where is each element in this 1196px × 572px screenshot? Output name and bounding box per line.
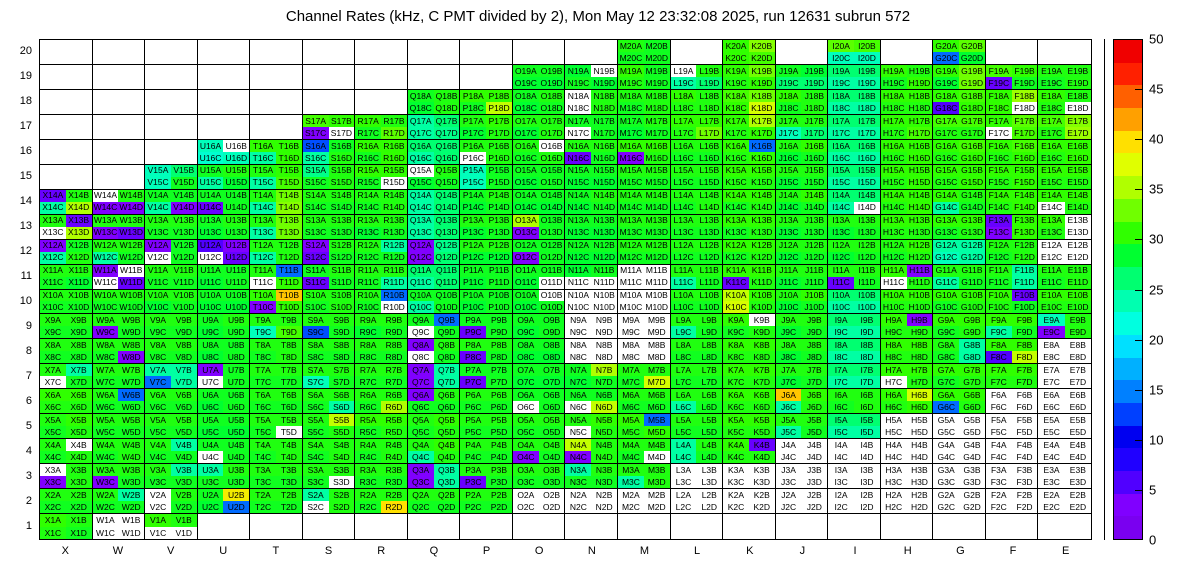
channel-T8D: T8D — [276, 351, 302, 363]
heatmap-cell-I12: I12AI12BI12CI12D — [828, 240, 881, 265]
heatmap-cell-O4: O4AO4BO4CO4D — [513, 439, 566, 464]
channel-X9D: X9D — [66, 326, 92, 338]
channel-P11B: P11B — [486, 265, 512, 277]
channel-N4D: N4D — [591, 451, 617, 463]
heatmap-cell-G13: G13AG13BG13CG13D — [933, 215, 986, 240]
channel-H7B: H7B — [907, 364, 933, 376]
channel-G12C: G12C — [933, 252, 959, 264]
channel-H11D: H11D — [907, 277, 933, 289]
channel-N4B: N4B — [591, 439, 617, 451]
heatmap-cell-X14: X14AX14BX14CX14D — [40, 190, 93, 215]
channel-E4C: E4C — [1038, 451, 1064, 463]
heatmap-cell-F1 — [986, 514, 1039, 539]
heatmap-cell-X1: X1AX1BX1CX1D — [40, 514, 93, 539]
channel-G19D: G19D — [959, 77, 985, 89]
heatmap-cell-K6: K6AK6BK6CK6D — [723, 389, 776, 414]
channel-L1A — [671, 514, 697, 526]
channel-G16A: G16A — [933, 140, 959, 152]
channel-M6C: M6C — [618, 401, 644, 413]
channel-T16C: T16C — [250, 152, 276, 164]
heatmap-cell-X6: X6AX6BX6CX6D — [40, 389, 93, 414]
channel-N13A: N13A — [565, 215, 591, 227]
y-axis-label-17: 17 — [2, 120, 32, 132]
heatmap-cell-W9: W9AW9BW9CW9D — [93, 314, 146, 339]
channel-H19D: H19D — [907, 77, 933, 89]
y-axis-label-16: 16 — [2, 145, 32, 157]
channel-N7B: N7B — [591, 364, 617, 376]
channel-E2B: E2B — [1065, 489, 1091, 501]
channel-K2C: K2C — [723, 501, 749, 513]
heatmap-cell-H6: H6AH6BH6CH6D — [881, 389, 934, 414]
channel-W14A: W14A — [93, 190, 119, 202]
heatmap-cell-R9: R9AR9BR9CR9D — [355, 314, 408, 339]
channel-J11D: J11D — [801, 277, 827, 289]
heatmap-cell-J8: J8AJ8BJ8CJ8D — [776, 339, 829, 364]
channel-T12D: T12D — [276, 252, 302, 264]
channel-S15D: S15D — [329, 177, 355, 189]
heatmap-cell-W3: W3AW3BW3CW3D — [93, 464, 146, 489]
channel-N10C: N10C — [565, 301, 591, 313]
channel-H4D: H4D — [907, 451, 933, 463]
channel-U3A: U3A — [198, 464, 224, 476]
channel-T14C: T14C — [250, 202, 276, 214]
heatmap-cell-F9: F9AF9BF9CF9D — [986, 314, 1039, 339]
channel-X14D: X14D — [66, 202, 92, 214]
channel-S6A: S6A — [303, 389, 329, 401]
channel-S2D: S2D — [329, 501, 355, 513]
channel-L4C: L4C — [671, 451, 697, 463]
channel-R14A: R14A — [355, 190, 381, 202]
channel-K19D: K19D — [749, 77, 775, 89]
channel-G20A: G20A — [933, 40, 959, 52]
heatmap-cell-H17: H17AH17BH17CH17D — [881, 115, 934, 140]
channel-H17C: H17C — [881, 127, 907, 139]
channel-S10A: S10A — [303, 290, 329, 302]
channel-M4A: M4A — [618, 439, 644, 451]
channel-Q19D — [434, 77, 460, 89]
channel-K18C: K18C — [723, 102, 749, 114]
channel-L17A: L17A — [671, 115, 697, 127]
channel-V3C: V3C — [145, 476, 171, 488]
x-axis-label-R: R — [355, 545, 408, 557]
channel-O10C: O10C — [513, 301, 539, 313]
channel-X11A: X11A — [40, 265, 66, 277]
channel-L11B: L11B — [696, 265, 722, 277]
channel-V9C: V9C — [145, 326, 171, 338]
channel-X17C — [40, 127, 66, 139]
channel-F10C: F10C — [986, 301, 1012, 313]
channel-J19B: J19B — [801, 65, 827, 77]
heatmap-cell-J14: J14AJ14BJ14CJ14D — [776, 190, 829, 215]
channel-T20D — [276, 52, 302, 64]
x-axis-label-U: U — [197, 545, 250, 557]
x-axis-label-J: J — [776, 545, 829, 557]
channel-U18D — [223, 102, 249, 114]
colorbar-tick-25: 25 — [1149, 282, 1163, 297]
channel-S13C: S13C — [303, 227, 329, 239]
channel-I2B: I2B — [854, 489, 880, 501]
channel-E10C: E10C — [1038, 301, 1064, 313]
channel-T9C: T9C — [250, 326, 276, 338]
colorbar-swatch — [1114, 40, 1142, 63]
heatmap-cell-U5: U5AU5BU5CU5D — [198, 414, 251, 439]
channel-K14C: K14C — [723, 202, 749, 214]
channel-F10D: F10D — [1012, 301, 1038, 313]
channel-Q18D: Q18D — [434, 102, 460, 114]
channel-Q15B: Q15B — [434, 165, 460, 177]
channel-Q6D: Q6D — [434, 401, 460, 413]
channel-M10D: M10D — [644, 301, 670, 313]
channel-T13C: T13C — [250, 227, 276, 239]
channel-E20B — [1065, 40, 1091, 52]
channel-O6B: O6B — [539, 389, 565, 401]
heatmap-cell-F8: F8AF8BF8CF8D — [986, 339, 1039, 364]
channel-Q20C — [408, 52, 434, 64]
channel-L12A: L12A — [671, 240, 697, 252]
heatmap-cell-P4: P4AP4BP4CP4D — [460, 439, 513, 464]
channel-G12A: G12A — [933, 240, 959, 252]
channel-F12A: F12A — [986, 240, 1012, 252]
channel-T3D: T3D — [276, 476, 302, 488]
heatmap-cell-V10: V10AV10BV10CV10D — [145, 290, 198, 315]
channel-R9A: R9A — [355, 314, 381, 326]
heatmap-cell-T3: T3AT3BT3CT3D — [250, 464, 303, 489]
channel-N5C: N5C — [565, 426, 591, 438]
heatmap-cell-N20 — [565, 40, 618, 65]
channel-X13A: X13A — [40, 215, 66, 227]
heatmap-cell-H7: H7AH7BH7CH7D — [881, 364, 934, 389]
channel-S14A: S14A — [303, 190, 329, 202]
heatmap-cell-K3: K3AK3BK3CK3D — [723, 464, 776, 489]
channel-P18D: P18D — [486, 102, 512, 114]
channel-P14C: P14C — [460, 202, 486, 214]
x-axis-label-M: M — [618, 545, 671, 557]
channel-X14B: X14B — [66, 190, 92, 202]
channel-J2A: J2A — [776, 489, 802, 501]
channel-O16B: O16B — [539, 140, 565, 152]
channel-E2C: E2C — [1038, 501, 1064, 513]
channel-N9A: N9A — [565, 314, 591, 326]
channel-L13A: L13A — [671, 215, 697, 227]
channel-N10B: N10B — [591, 290, 617, 302]
heatmap-cell-T11: T11AT11BT11CT11D — [250, 265, 303, 290]
channel-Q16C: Q16C — [408, 152, 434, 164]
heatmap-cell-J11: J11AJ11BJ11CJ11D — [776, 265, 829, 290]
channel-R6C: R6C — [355, 401, 381, 413]
channel-W14C: W14C — [93, 202, 119, 214]
channel-F7C: F7C — [986, 376, 1012, 388]
channel-M11B: M11B — [644, 265, 670, 277]
channel-J14D: J14D — [801, 202, 827, 214]
channel-S13B: S13B — [329, 215, 355, 227]
heatmap-cell-R13: R13AR13BR13CR13D — [355, 215, 408, 240]
heatmap-cell-V1: V1AV1BV1CV1D — [145, 514, 198, 539]
channel-T1C — [250, 527, 276, 539]
channel-H18D: H18D — [907, 102, 933, 114]
heatmap-cell-N7: N7AN7BN7CN7D — [565, 364, 618, 389]
channel-U14A: U14A — [198, 190, 224, 202]
channel-L20A — [671, 40, 697, 52]
channel-P16C: P16C — [460, 152, 486, 164]
channel-I12C: I12C — [828, 252, 854, 264]
heatmap-cell-U12: U12AU12BU12CU12D — [198, 240, 251, 265]
channel-U20B — [223, 40, 249, 52]
channel-V18C — [145, 102, 171, 114]
channel-H8C: H8C — [881, 351, 907, 363]
channel-S15A: S15A — [303, 165, 329, 177]
channel-U1C — [198, 527, 224, 539]
heatmap-cell-M15: M15AM15BM15CM15D — [618, 165, 671, 190]
channel-W17D — [118, 127, 144, 139]
heatmap-cell-R18 — [355, 90, 408, 115]
y-axis-label-12: 12 — [2, 245, 32, 257]
channel-X20D — [66, 52, 92, 64]
channel-S19D — [329, 77, 355, 89]
channel-K4A: K4A — [723, 439, 749, 451]
channel-M2A: M2A — [618, 489, 644, 501]
heatmap-cell-W4: W4AW4BW4CW4D — [93, 439, 146, 464]
channel-X13B: X13B — [66, 215, 92, 227]
channel-K19C: K19C — [723, 77, 749, 89]
heatmap-plot: M20AM20BM20CM20DK20AK20BK20CK20DI20AI20B… — [39, 39, 1092, 540]
colorbar-tick-40: 40 — [1149, 132, 1163, 147]
channel-U17C — [198, 127, 224, 139]
heatmap-cell-S11: S11AS11BS11CS11D — [303, 265, 356, 290]
channel-T13D: T13D — [276, 227, 302, 239]
channel-N3A: N3A — [565, 464, 591, 476]
channel-O15D: O15D — [539, 177, 565, 189]
channel-S17B: S17B — [329, 115, 355, 127]
channel-K5D: K5D — [749, 426, 775, 438]
channel-I6D: I6D — [854, 401, 880, 413]
heatmap-cell-R11: R11AR11BR11CR11D — [355, 265, 408, 290]
channel-H6C: H6C — [881, 401, 907, 413]
channel-M7A: M7A — [618, 364, 644, 376]
heatmap-cell-F6: F6AF6BF6CF6D — [986, 389, 1039, 414]
channel-S9D: S9D — [329, 326, 355, 338]
channel-L10B: L10B — [696, 290, 722, 302]
heatmap-cell-L4: L4AL4BL4CL4D — [671, 439, 724, 464]
heatmap-cell-R16: R16AR16BR16CR16D — [355, 140, 408, 165]
channel-H12D: H12D — [907, 252, 933, 264]
channel-N15B: N15B — [591, 165, 617, 177]
channel-X14C: X14C — [40, 202, 66, 214]
channel-O9C: O9C — [513, 326, 539, 338]
channel-J11B: J11B — [801, 265, 827, 277]
channel-H9C: H9C — [881, 326, 907, 338]
channel-J16C: J16C — [776, 152, 802, 164]
channel-P12A: P12A — [460, 240, 486, 252]
channel-W5C: W5C — [93, 426, 119, 438]
channel-V17C — [145, 127, 171, 139]
channel-G8A: G8A — [933, 339, 959, 351]
heatmap-cell-U1 — [198, 514, 251, 539]
channel-M6D: M6D — [644, 401, 670, 413]
channel-W12C: W12C — [93, 252, 119, 264]
channel-G17A: G17A — [933, 115, 959, 127]
channel-S11C: S11C — [303, 277, 329, 289]
channel-Q15D: Q15D — [434, 177, 460, 189]
channel-L3D: L3D — [696, 476, 722, 488]
channel-I7C: I7C — [828, 376, 854, 388]
channel-T7C: T7C — [250, 376, 276, 388]
channel-G9D: G9D — [959, 326, 985, 338]
channel-H19A: H19A — [881, 65, 907, 77]
channel-W11C: W11C — [93, 277, 119, 289]
channel-O6C: O6C — [513, 401, 539, 413]
heatmap-cell-J12: J12AJ12BJ12CJ12D — [776, 240, 829, 265]
heatmap-cell-S20 — [303, 40, 356, 65]
heatmap-cell-G4: G4AG4BG4CG4D — [933, 439, 986, 464]
channel-J20D — [801, 52, 827, 64]
channel-X5D: X5D — [66, 426, 92, 438]
channel-R3B: R3B — [381, 464, 407, 476]
heatmap-cell-O7: O7AO7BO7CO7D — [513, 364, 566, 389]
channel-W8A: W8A — [93, 339, 119, 351]
channel-V17D — [171, 127, 197, 139]
channel-F11A: F11A — [986, 265, 1012, 277]
channel-O13C: O13C — [513, 227, 539, 239]
channel-P20D — [486, 52, 512, 64]
channel-T20A — [250, 40, 276, 52]
heatmap-cell-G15: G15AG15BG15CG15D — [933, 165, 986, 190]
channel-V8B: V8B — [171, 339, 197, 351]
channel-U19A — [198, 65, 224, 77]
heatmap-cell-Q13: Q13AQ13BQ13CQ13D — [408, 215, 461, 240]
channel-L2A: L2A — [671, 489, 697, 501]
channel-G12D: G12D — [959, 252, 985, 264]
channel-X1C: X1C — [40, 527, 66, 539]
heatmap-cell-K1 — [723, 514, 776, 539]
channel-Q10C: Q10C — [408, 301, 434, 313]
channel-L18B: L18B — [696, 90, 722, 102]
channel-W1B: W1B — [118, 514, 144, 526]
channel-S10B: S10B — [329, 290, 355, 302]
channel-T8C: T8C — [250, 351, 276, 363]
heatmap-cell-J4: J4AJ4BJ4CJ4D — [776, 439, 829, 464]
channel-E4B: E4B — [1065, 439, 1091, 451]
channel-O11D: O11D — [539, 277, 565, 289]
channel-J8A: J8A — [776, 339, 802, 351]
heatmap-cell-N5: N5AN5BN5CN5D — [565, 414, 618, 439]
channel-N12D: N12D — [591, 252, 617, 264]
channel-P9C: P9C — [460, 326, 486, 338]
x-axis-label-L: L — [671, 545, 724, 557]
heatmap-cell-M9: M9AM9BM9CM9D — [618, 314, 671, 339]
heatmap-cell-L11: L11AL11BL11CL11D — [671, 265, 724, 290]
channel-M7D: M7D — [644, 376, 670, 388]
channel-V19A — [145, 65, 171, 77]
channel-J11C: J11C — [776, 277, 802, 289]
channel-P16A: P16A — [460, 140, 486, 152]
channel-V16A — [145, 140, 171, 152]
channel-M15D: M15D — [644, 177, 670, 189]
channel-U9B: U9B — [223, 314, 249, 326]
channel-V15B: V15B — [171, 165, 197, 177]
heatmap-cell-E4: E4AE4BE4CE4D — [1038, 439, 1091, 464]
channel-W8D: W8D — [118, 351, 144, 363]
channel-V5C: V5C — [145, 426, 171, 438]
channel-J9B: J9B — [801, 314, 827, 326]
channel-S17A: S17A — [303, 115, 329, 127]
channel-K13A: K13A — [723, 215, 749, 227]
channel-L18D: L18D — [696, 102, 722, 114]
channel-L15B: L15B — [696, 165, 722, 177]
channel-R10B: R10B — [381, 290, 407, 302]
heatmap-cell-U19 — [198, 65, 251, 90]
channel-K11C: K11C — [723, 277, 749, 289]
channel-K9D: K9D — [749, 326, 775, 338]
channel-R16B: R16B — [381, 140, 407, 152]
channel-J2B: J2B — [801, 489, 827, 501]
channel-P8B: P8B — [486, 339, 512, 351]
heatmap-cell-P12: P12AP12BP12CP12D — [460, 240, 513, 265]
colorbar-ticks: 05101520253035404550 — [1143, 39, 1195, 540]
channel-E20A — [1038, 40, 1064, 52]
channel-L8B: L8B — [696, 339, 722, 351]
channel-P3D: P3D — [486, 476, 512, 488]
channel-W7A: W7A — [93, 364, 119, 376]
channel-E16C: E16C — [1038, 152, 1064, 164]
heatmap-cell-H13: H13AH13BH13CH13D — [881, 215, 934, 240]
channel-E12C: E12C — [1038, 252, 1064, 264]
channel-G13C: G13C — [933, 227, 959, 239]
channel-S8D: S8D — [329, 351, 355, 363]
channel-O3D: O3D — [539, 476, 565, 488]
heatmap-cell-M20: M20AM20BM20CM20D — [618, 40, 671, 65]
heatmap-cell-L2: L2AL2BL2CL2D — [671, 489, 724, 514]
channel-F19D: F19D — [1012, 77, 1038, 89]
channel-J6C: J6C — [776, 401, 802, 413]
channel-F7A: F7A — [986, 364, 1012, 376]
channel-Q8B: Q8B — [434, 339, 460, 351]
channel-R18C — [355, 102, 381, 114]
channel-S14D: S14D — [329, 202, 355, 214]
heatmap-cell-F16: F16AF16BF16CF16D — [986, 140, 1039, 165]
channel-J16D: J16D — [801, 152, 827, 164]
channel-M14D: M14D — [644, 202, 670, 214]
channel-U19B — [223, 65, 249, 77]
heatmap-cell-G8: G8AG8BG8CG8D — [933, 339, 986, 364]
channel-G5D: G5D — [959, 426, 985, 438]
channel-F15B: F15B — [1012, 165, 1038, 177]
channel-J12C: J12C — [776, 252, 802, 264]
heatmap-cell-Q2: Q2AQ2BQ2CQ2D — [408, 489, 461, 514]
channel-E6A: E6A — [1038, 389, 1064, 401]
colorbar-tick-5: 5 — [1149, 482, 1156, 497]
channel-Q11C: Q11C — [408, 277, 434, 289]
channel-W11A: W11A — [93, 265, 119, 277]
channel-I1C — [828, 527, 854, 539]
heatmap-cell-J16: J16AJ16BJ16CJ16D — [776, 140, 829, 165]
heatmap-cell-W10: W10AW10BW10CW10D — [93, 290, 146, 315]
channel-V9D: V9D — [171, 326, 197, 338]
channel-O18C: O18C — [513, 102, 539, 114]
channel-G7A: G7A — [933, 364, 959, 376]
channel-G7B: G7B — [959, 364, 985, 376]
channel-S10C: S10C — [303, 301, 329, 313]
channel-G19B: G19B — [959, 65, 985, 77]
channel-I3B: I3B — [854, 464, 880, 476]
channel-U2B: U2B — [223, 489, 249, 501]
channel-W11B: W11B — [118, 265, 144, 277]
channel-L9A: L9A — [671, 314, 697, 326]
channel-W20D — [118, 52, 144, 64]
channel-G3A: G3A — [933, 464, 959, 476]
channel-Q3A: Q3A — [408, 464, 434, 476]
channel-Q2C: Q2C — [408, 501, 434, 513]
channel-L16C: L16C — [671, 152, 697, 164]
